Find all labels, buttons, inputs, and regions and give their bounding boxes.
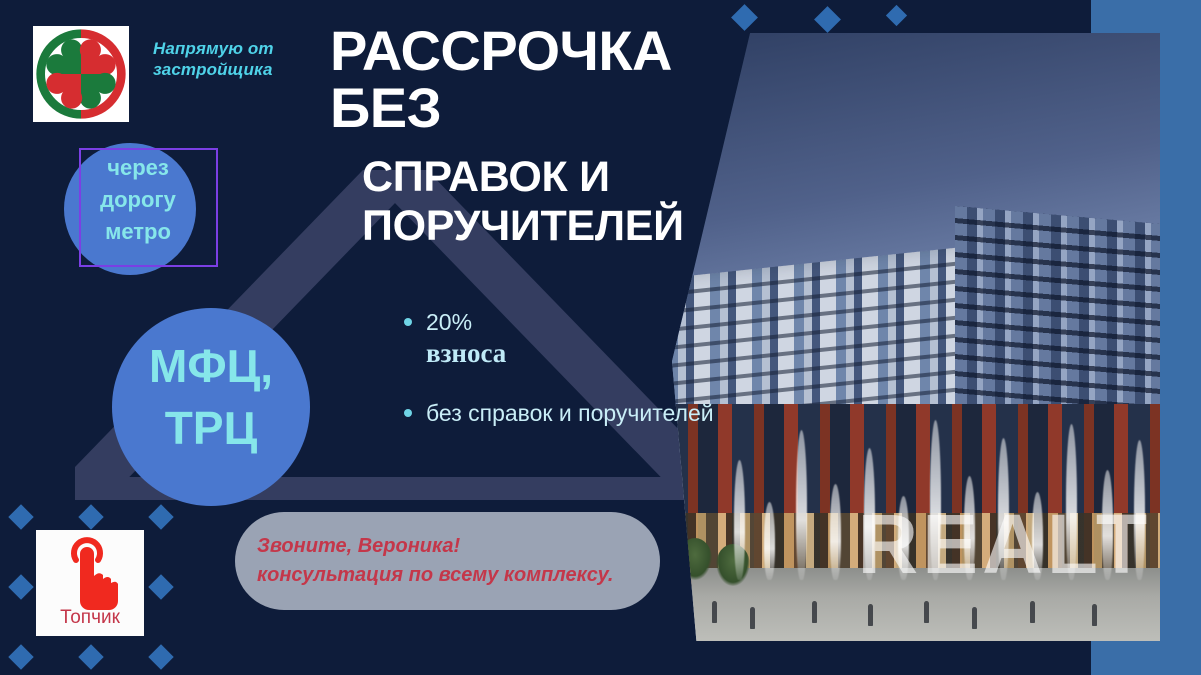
metro-badge-label: через дорогу метро	[64, 152, 212, 248]
callout-line-1: Звоните, Вероника!	[257, 532, 660, 561]
amenity-line-2: ТРЦ	[112, 397, 310, 459]
consultation-callout: Звоните, Вероника! консультация по всему…	[235, 512, 660, 610]
bullet-secondary: взноса	[426, 337, 728, 369]
photo-fountain	[764, 502, 775, 580]
realt-watermark: REALT	[857, 502, 1151, 586]
developer-tagline: Напрямую от застройщика	[153, 38, 303, 81]
photo-person	[924, 601, 929, 623]
photo-person	[712, 601, 717, 623]
photo-fountain	[734, 460, 745, 580]
photo-person	[750, 607, 755, 629]
headline: РАССРОЧКА БЕЗ СПРАВОК И ПОРУЧИТЕЛЕЙ	[330, 22, 760, 249]
bullet-item: без справок и поручителей	[398, 399, 728, 428]
photo-person	[1030, 601, 1035, 623]
photo-tree	[716, 544, 750, 586]
clover-logo	[33, 26, 129, 122]
photo-person	[868, 604, 873, 626]
bullet-primary: без справок и поручителей	[426, 399, 728, 428]
headline-line-2: БЕЗ	[330, 79, 760, 136]
amenity-line-1: МФЦ,	[112, 335, 310, 397]
headline-line-3: СПРАВОК И	[362, 154, 760, 200]
amenity-badge-label: МФЦ, ТРЦ	[112, 335, 310, 459]
photo-person	[972, 607, 977, 629]
feature-bullets: 20% взноса без справок и поручителей	[398, 308, 728, 432]
bullet-item: 20% взноса	[398, 308, 728, 369]
photo-person	[1092, 604, 1097, 626]
svg-text:Топчик: Топчик	[60, 607, 120, 628]
photo-fountain	[830, 484, 841, 580]
bullet-primary: 20%	[426, 308, 728, 337]
metro-line-2: дорогу	[64, 184, 212, 216]
bullet-dot-icon	[404, 409, 412, 417]
photo-person	[812, 601, 817, 623]
topchik-logo: Топчик	[36, 530, 144, 636]
callout-line-2: консультация по всему комплексу.	[257, 561, 660, 590]
metro-line-3: метро	[64, 216, 212, 248]
headline-line-4: ПОРУЧИТЕЛЕЙ	[362, 203, 760, 249]
metro-line-1: через	[64, 152, 212, 184]
promo-poster: REALT Напрямую от застройщика через доро…	[0, 0, 1201, 675]
photo-fountain	[796, 430, 807, 580]
headline-line-1: РАССРОЧКА	[330, 22, 760, 79]
bullet-dot-icon	[404, 318, 412, 326]
